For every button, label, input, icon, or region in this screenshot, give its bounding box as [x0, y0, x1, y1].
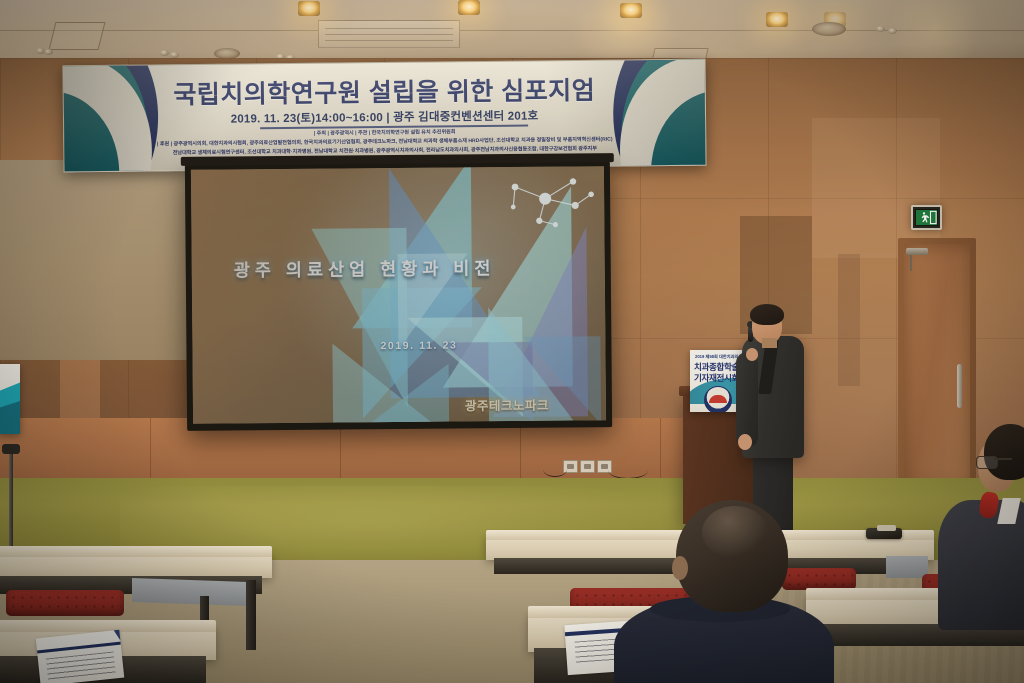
speaker-hand: [738, 434, 752, 450]
exit-door[interactable]: [904, 244, 970, 490]
podium-sign-line-2: 기자재전시회: [694, 372, 739, 384]
ceiling: [0, 0, 1024, 66]
lecture-hall-photo: 국립치의학연구원 설립을 위한 심포지엄 2019. 11. 23(토)14:0…: [0, 0, 1024, 683]
ceiling-speaker: [812, 22, 846, 36]
attendee-front-center-hair-sheen: [702, 506, 768, 558]
door-closer: [906, 248, 928, 255]
door-closer-arm: [910, 255, 912, 271]
table-edge: [0, 546, 272, 557]
sprinkler-head: [44, 49, 53, 55]
speaker-hair: [750, 304, 784, 325]
speaker-hand-mic: [746, 348, 758, 361]
ceiling-access-panel: [49, 22, 106, 50]
chair[interactable]: [6, 590, 124, 616]
ceiling-downlight: [620, 3, 642, 18]
molecule-icon: [503, 172, 599, 235]
slide-date: 2019. 11. 23: [380, 339, 457, 352]
wall-section-left-upper: [0, 160, 196, 360]
sprinkler-head: [888, 28, 897, 34]
attendee-right-glasses-arm: [994, 458, 1012, 460]
presentation-slide: 광주 의료산업 현황과 비전 2019. 11. 23 광주테크노파크: [191, 166, 606, 424]
table-modesty-panel: [886, 556, 928, 578]
sprinkler-head: [876, 26, 885, 32]
sprinkler-head: [160, 50, 169, 56]
left-side-poster: [0, 364, 20, 434]
program-booklet[interactable]: [36, 630, 125, 683]
speaker-neck: [762, 338, 777, 348]
table-modesty-panel: [132, 578, 248, 606]
slide-logo: 광주테크노파크: [465, 395, 549, 415]
ceiling-downlight: [298, 1, 320, 16]
power-cable: [608, 462, 648, 479]
chair[interactable]: [782, 568, 856, 590]
microphone-stand-head: [2, 444, 20, 454]
wall-outlet[interactable]: [580, 460, 595, 473]
ceiling-vent: [318, 20, 460, 48]
attendee-right-hair: [984, 424, 1024, 480]
attendee-front-center-ear: [672, 556, 688, 580]
camera-on-table[interactable]: [866, 528, 902, 539]
emergency-exit-icon: [911, 205, 942, 230]
projection-screen: 광주 의료산업 현황과 비전 2019. 11. 23 광주테크노파크: [185, 161, 612, 431]
ceiling-downlight: [458, 0, 480, 15]
power-cable: [543, 462, 567, 477]
door-handle[interactable]: [957, 364, 962, 408]
table-leg: [246, 580, 256, 650]
ceiling-downlight: [766, 12, 788, 27]
slide-title: 광주 의료산업 현황과 비전: [234, 255, 496, 282]
association-emblem-icon: [704, 386, 732, 412]
